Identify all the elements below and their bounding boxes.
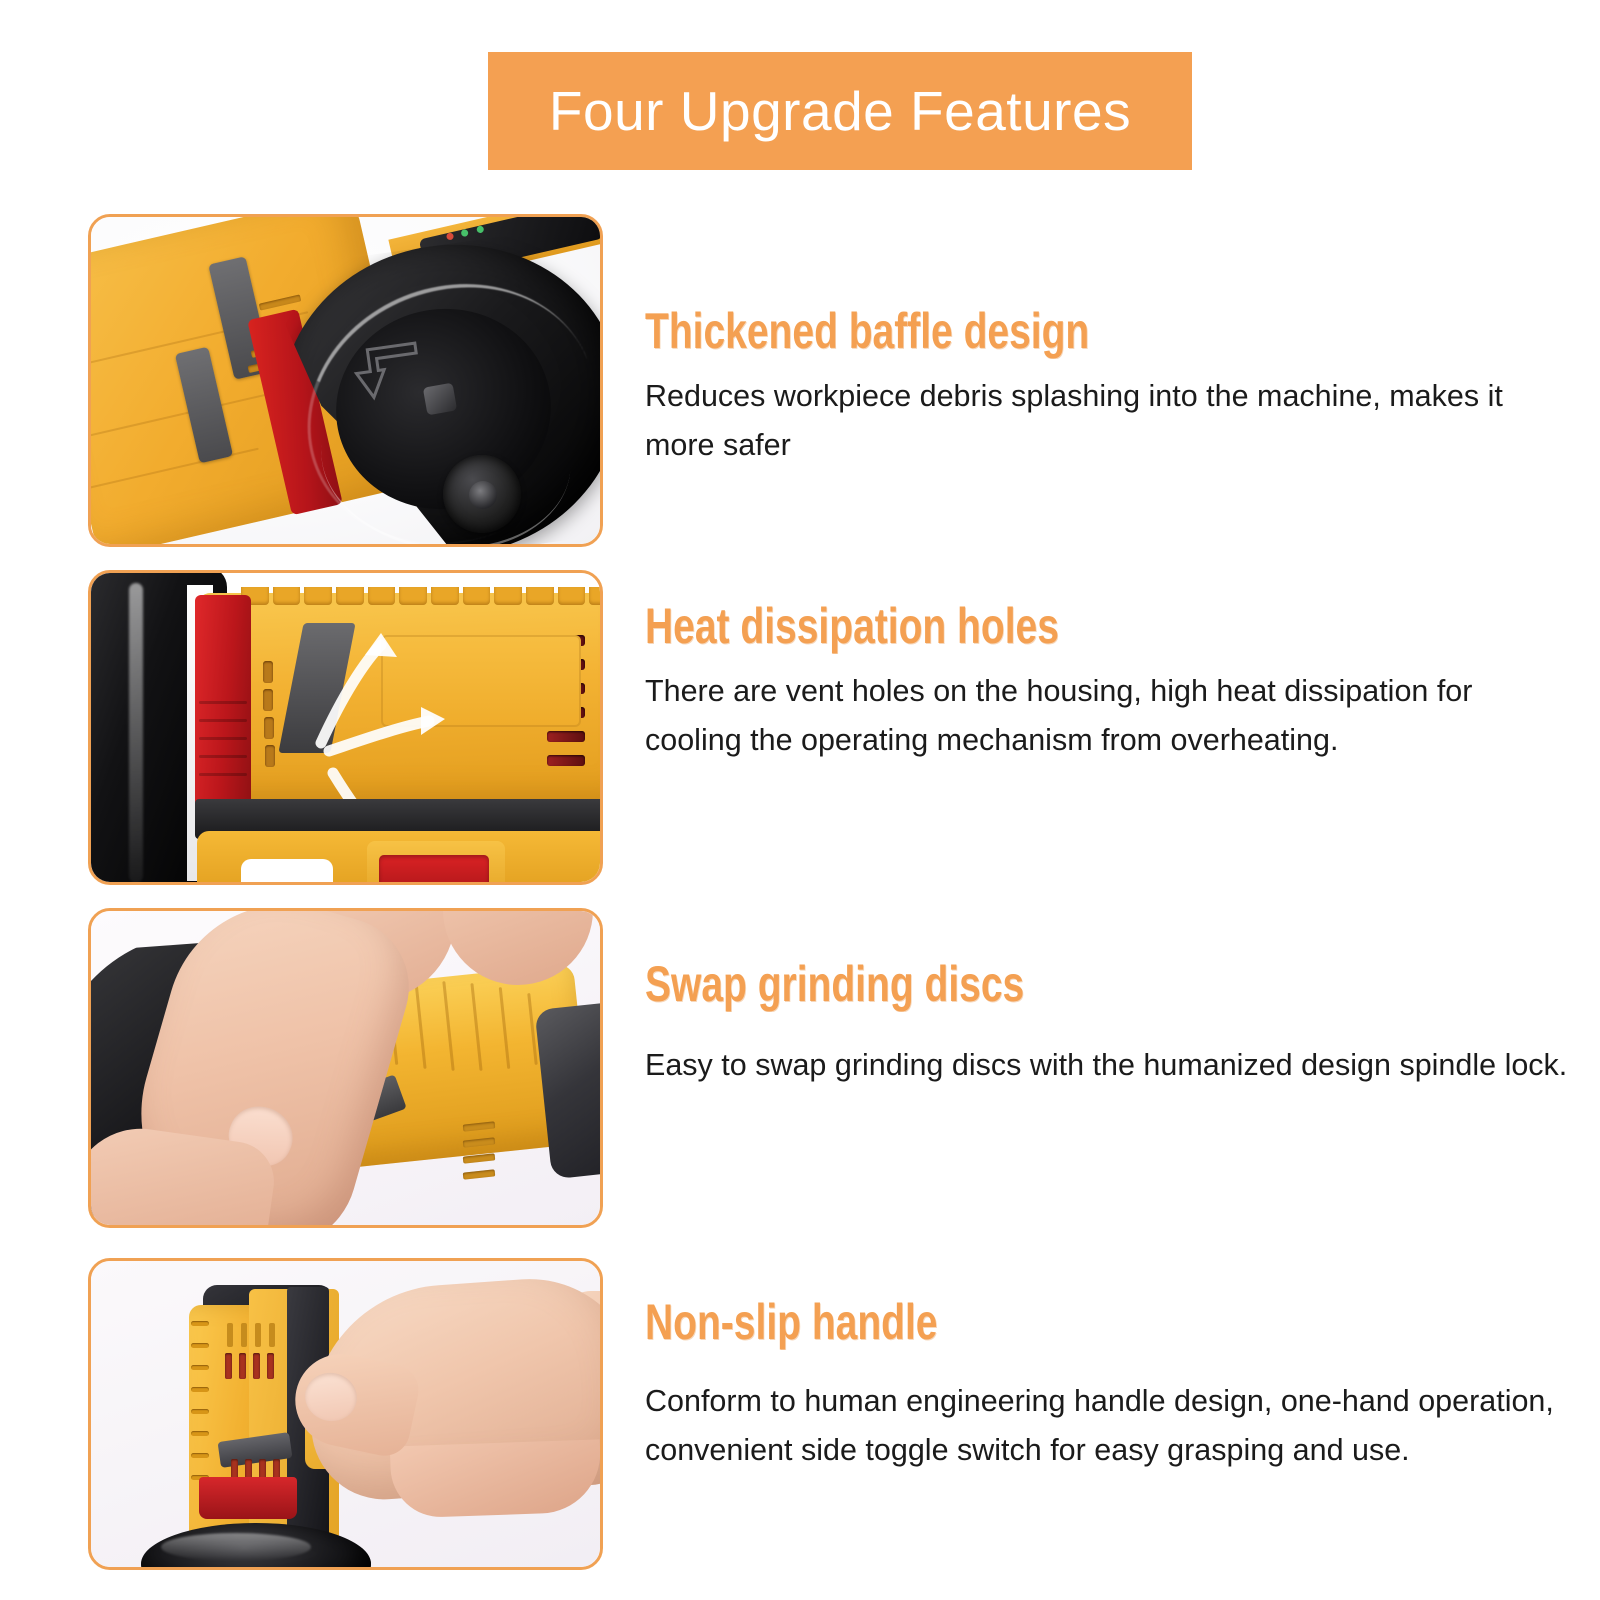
feature-heading-4: Non-slip handle: [645, 1296, 1367, 1349]
feature-photo-frame-1: [88, 214, 603, 547]
feature-heading-1: Thickened baffle design: [645, 305, 1367, 358]
feature-text-2: Heat dissipation holes There are vent ho…: [645, 600, 1570, 765]
feature-description-4: Conform to human engineering handle desi…: [645, 1377, 1570, 1476]
feature-photo-frame-4: [88, 1258, 603, 1570]
feature-heading-2: Heat dissipation holes: [645, 600, 1367, 653]
feature-text-1: Thickened baffle design Reduces workpiec…: [645, 305, 1570, 470]
non-slip-handle-illustration: [91, 1261, 600, 1567]
grinder-baffle-illustration: [91, 217, 600, 544]
feature-text-3: Swap grinding discs Easy to swap grindin…: [645, 958, 1570, 1090]
grinder-vent-holes-illustration: [91, 573, 600, 882]
feature-heading-3: Swap grinding discs: [645, 958, 1367, 1011]
feature-description-2: There are vent holes on the housing, hig…: [645, 667, 1570, 766]
feature-description-1: Reduces workpiece debris splashing into …: [645, 372, 1570, 471]
feature-photo-frame-2: [88, 570, 603, 885]
feature-description-3: Easy to swap grinding discs with the hum…: [645, 1041, 1570, 1090]
page-title: Four Upgrade Features: [549, 79, 1131, 143]
swap-disc-illustration: [91, 911, 600, 1225]
header-banner: Four Upgrade Features: [488, 52, 1192, 170]
feature-photo-frame-3: [88, 908, 603, 1228]
feature-text-4: Non-slip handle Conform to human enginee…: [645, 1296, 1570, 1475]
